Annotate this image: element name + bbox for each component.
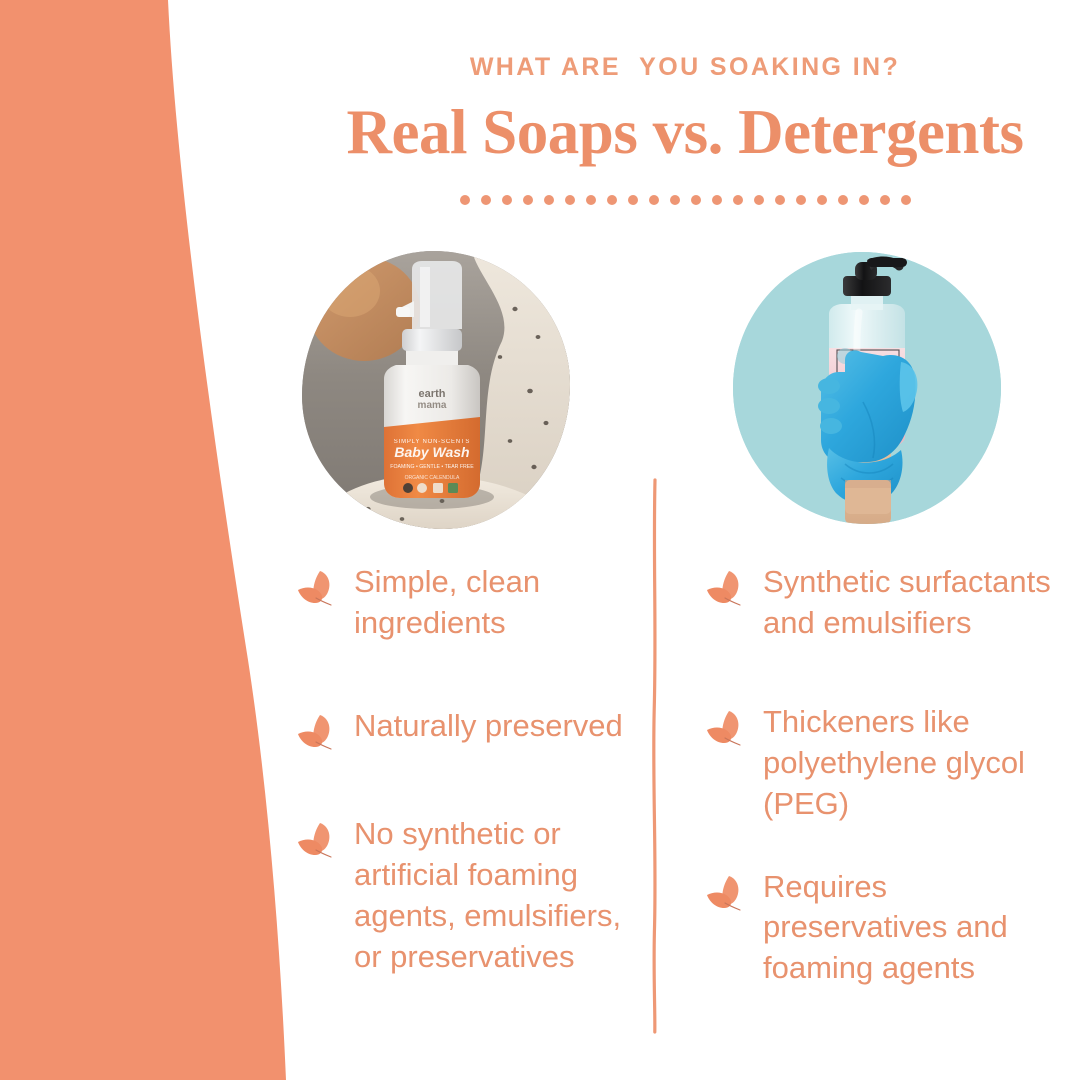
divider-dot (502, 195, 512, 205)
leaf-sprig-icon (296, 712, 338, 752)
list-item-label: Simple, clean ingredients (354, 562, 626, 644)
divider-dot (712, 195, 722, 205)
page-title: Real Soaps vs. Detergents (290, 96, 1080, 168)
divider-dot (901, 195, 911, 205)
divider-dot (670, 195, 680, 205)
list-item: Thickeners like polyethylene glycol (PEG… (705, 702, 1065, 825)
divider-dot (460, 195, 470, 205)
header-block: WHAT ARE YOU SOAKING IN? Real Soaps vs. … (290, 52, 1080, 206)
list-item-label: Requires preservatives and foaming agent… (763, 867, 1065, 990)
divider-dot (796, 195, 806, 205)
list-item-label: Thickeners like polyethylene glycol (PEG… (763, 702, 1065, 825)
divider-dot (565, 195, 575, 205)
divider-dot (586, 195, 596, 205)
divider-dot (628, 195, 638, 205)
list-item-label: Naturally preserved (354, 706, 623, 747)
list-item: Naturally preserved (296, 706, 626, 752)
divider-dot (544, 195, 554, 205)
divider-dot (859, 195, 869, 205)
divider-dot (754, 195, 764, 205)
photo-real-soap: earth mama SIMPLY NON-SCENTS Baby Wash F… (302, 251, 570, 529)
orange-wedge-decoration (0, 0, 300, 1080)
infographic-canvas: WHAT ARE YOU SOAKING IN? Real Soaps vs. … (0, 0, 1080, 1080)
list-item: Requires preservatives and foaming agent… (705, 867, 1065, 990)
baby-wash-photo-illustration: earth mama SIMPLY NON-SCENTS Baby Wash F… (302, 251, 570, 529)
svg-text:FOAMING • GENTLE • TEAR FREE: FOAMING • GENTLE • TEAR FREE (390, 464, 474, 470)
divider-dot (817, 195, 827, 205)
kicker-text: WHAT ARE YOU SOAKING IN? (290, 52, 1080, 82)
list-item: Simple, clean ingredients (296, 562, 626, 644)
column-divider (648, 478, 662, 1034)
dot-divider (290, 194, 1080, 206)
svg-text:Baby Wash: Baby Wash (394, 444, 469, 460)
list-item: Synthetic surfactants and emulsifiers (705, 562, 1065, 644)
leaf-sprig-icon (296, 568, 338, 608)
divider-dot (523, 195, 533, 205)
leaf-sprig-icon (705, 873, 747, 913)
divider-dot (733, 195, 743, 205)
list-item-label: Synthetic surfactants and emulsifiers (763, 562, 1065, 644)
divider-dot (838, 195, 848, 205)
divider-dot (880, 195, 890, 205)
divider-dot (607, 195, 617, 205)
list-item-label: No synthetic or artificial foaming agent… (354, 814, 626, 978)
svg-text:mama: mama (418, 400, 447, 411)
leaf-sprig-icon (705, 568, 747, 608)
forearm-overflow (845, 480, 891, 520)
leaf-sprig-icon (705, 708, 747, 748)
column-real-soaps: Simple, clean ingredients Naturally pres… (296, 562, 626, 1011)
divider-dot (481, 195, 491, 205)
leaf-sprig-icon (296, 820, 338, 860)
divider-dot (649, 195, 659, 205)
column-detergents: Synthetic surfactants and emulsifiers Th… (705, 562, 1065, 1023)
svg-text:earth: earth (419, 388, 446, 400)
svg-text:ORGANIC CALENDULA: ORGANIC CALENDULA (405, 475, 460, 481)
divider-dot (775, 195, 785, 205)
divider-dot (691, 195, 701, 205)
list-item: No synthetic or artificial foaming agent… (296, 814, 626, 978)
